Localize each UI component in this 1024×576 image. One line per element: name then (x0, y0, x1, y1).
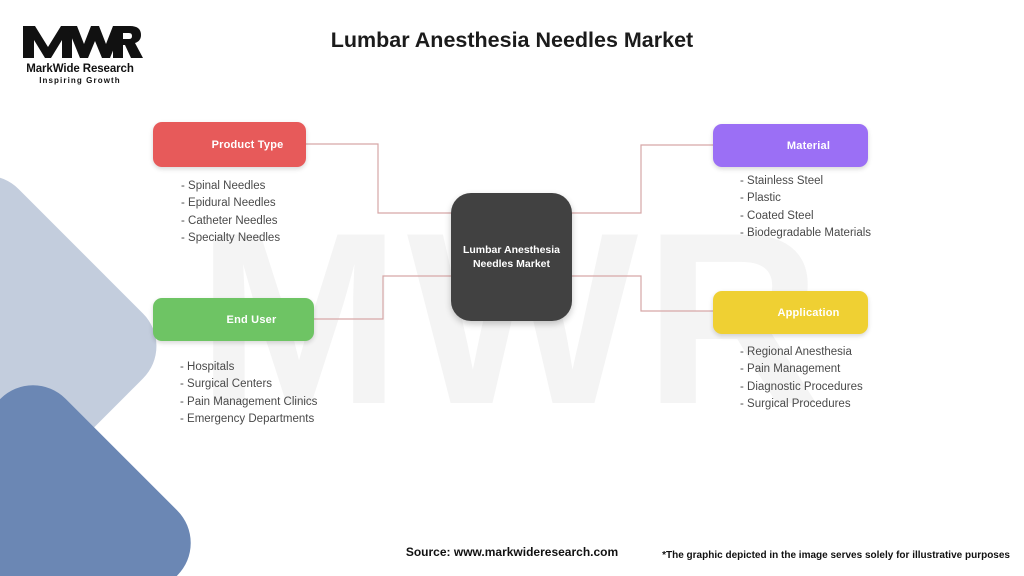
logo-tagline: Inspiring Growth (17, 76, 143, 85)
item-list-application: - Regional Anesthesia - Pain Management … (740, 344, 863, 414)
connector-end-user (314, 276, 451, 319)
center-node-line1: Lumbar Anesthesia (463, 244, 560, 256)
list-item: - Plastic (740, 190, 871, 207)
list-item: - Spinal Needles (181, 178, 280, 195)
page-title: Lumbar Anesthesia Needles Market (0, 28, 1024, 53)
branch-node-material[interactable]: Material (713, 124, 868, 167)
item-list-end-user: - Hospitals - Surgical Centers - Pain Ma… (180, 359, 317, 429)
list-item: - Pain Management Clinics (180, 394, 317, 411)
center-node-label: Lumbar Anesthesia Needles Market (455, 243, 568, 271)
list-item: - Hospitals (180, 359, 317, 376)
list-item: - Emergency Departments (180, 411, 317, 428)
center-node[interactable]: Lumbar Anesthesia Needles Market (451, 193, 572, 321)
list-item: - Epidural Needles (181, 195, 280, 212)
branch-label-end-user: End User (153, 314, 314, 326)
item-list-product-type: - Spinal Needles - Epidural Needles - Ca… (181, 178, 280, 248)
list-item: - Catheter Needles (181, 213, 280, 230)
list-item: - Regional Anesthesia (740, 344, 863, 361)
infographic-canvas: MWR MarkWide Research Inspiring Growth L… (0, 0, 1024, 576)
list-item: - Diagnostic Procedures (740, 379, 863, 396)
connector-material (572, 145, 713, 213)
list-item: - Pain Management (740, 361, 863, 378)
center-node-line2: Needles Market (473, 258, 550, 270)
branch-label-product-type: Product Type (153, 139, 306, 151)
list-item: - Stainless Steel (740, 173, 871, 190)
logo-company-name: MarkWide Research (17, 63, 143, 75)
connector-application (572, 276, 713, 311)
list-item: - Coated Steel (740, 208, 871, 225)
footer-disclaimer: *The graphic depicted in the image serve… (662, 550, 1010, 561)
list-item: - Specialty Needles (181, 230, 280, 247)
branch-node-end-user[interactable]: End User (153, 298, 314, 341)
connector-product-type (306, 144, 451, 213)
item-list-material: - Stainless Steel - Plastic - Coated Ste… (740, 173, 871, 243)
list-item: - Surgical Centers (180, 376, 317, 393)
list-item: - Biodegradable Materials (740, 225, 871, 242)
branch-label-material: Material (713, 140, 868, 152)
list-item: - Surgical Procedures (740, 396, 863, 413)
branch-node-product-type[interactable]: Product Type (153, 122, 306, 167)
branch-label-application: Application (713, 307, 868, 319)
branch-node-application[interactable]: Application (713, 291, 868, 334)
